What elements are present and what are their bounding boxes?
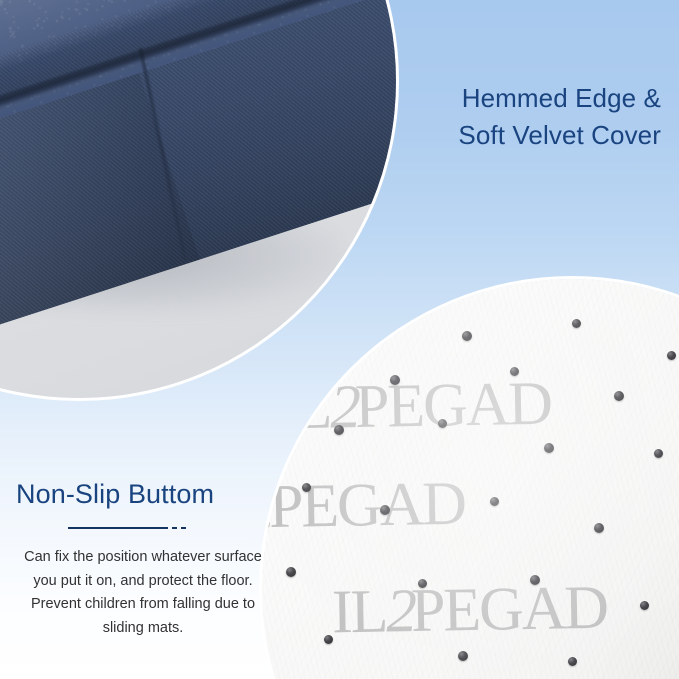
headline-line-2: Soft Velvet Cover <box>381 117 661 154</box>
divider-dash-1 <box>172 527 177 529</box>
feature-body-line-4: sliding mats. <box>18 617 268 640</box>
feature-description: Can fix the position whatever surface yo… <box>12 546 274 640</box>
mat-lighting-overlay <box>262 279 679 679</box>
non-slip-mat-circle: IL2PEGADIL2PEGADIL2PEGAD <box>262 279 679 679</box>
feature-body-line-2: you put it on, and protect the floor. <box>18 570 268 593</box>
divider-dash-2 <box>181 527 186 529</box>
divider-line <box>68 527 168 529</box>
headline-line-1: Hemmed Edge & <box>381 80 661 117</box>
feature-body-line-1: Can fix the position whatever surface <box>18 546 268 569</box>
feature-block: Non-Slip Buttom Can fix the position wha… <box>12 478 274 640</box>
headline: Hemmed Edge & Soft Velvet Cover <box>381 80 661 154</box>
feature-divider <box>68 527 208 529</box>
product-feature-poster: IL2PEGADIL2PEGADIL2PEGAD Hemmed Edge & S… <box>0 0 679 679</box>
feature-body-line-3: Prevent children from falling due to <box>18 593 268 616</box>
feature-title: Non-Slip Buttom <box>12 478 274 510</box>
